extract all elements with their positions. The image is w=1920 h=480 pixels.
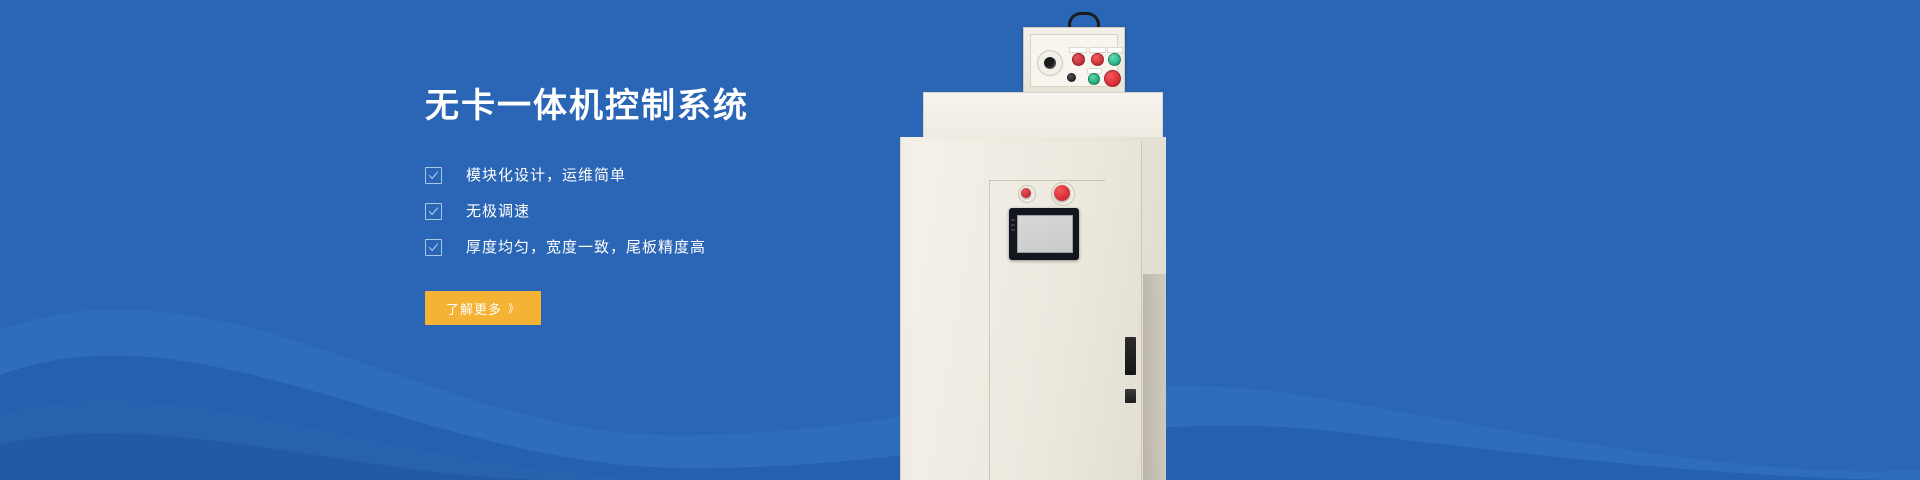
hero-banner: 无卡一体机控制系统 模块化设计，运维简单 无极调速 bbox=[0, 0, 1920, 480]
list-item: 厚度均匀，宽度一致，尾板精度高 bbox=[425, 239, 985, 256]
hmi-panel[interactable] bbox=[1009, 208, 1079, 260]
checkbox-check-icon bbox=[425, 239, 442, 256]
touchscreen-hmi[interactable] bbox=[1017, 215, 1073, 253]
control-box bbox=[1023, 27, 1125, 94]
checkbox-check-icon bbox=[425, 167, 442, 184]
page-title: 无卡一体机控制系统 bbox=[425, 88, 985, 125]
button-emergency-stop[interactable] bbox=[1104, 70, 1121, 87]
hmi-side-keys[interactable] bbox=[1011, 219, 1015, 239]
chevron-right-icon: 》 bbox=[508, 300, 520, 316]
rotary-selector-knob[interactable] bbox=[1037, 50, 1063, 76]
feature-label: 无极调速 bbox=[466, 204, 530, 219]
button-red-2[interactable] bbox=[1091, 53, 1104, 66]
feature-label: 厚度均匀，宽度一致，尾板精度高 bbox=[466, 240, 706, 255]
cabinet-side-shadow bbox=[1143, 274, 1167, 480]
list-item: 无极调速 bbox=[425, 203, 985, 220]
door-handle[interactable] bbox=[1125, 337, 1136, 375]
indicator-small-red[interactable] bbox=[1021, 188, 1031, 198]
door-seam-horizontal bbox=[989, 180, 1105, 181]
list-item: 模块化设计，运维简单 bbox=[425, 167, 985, 184]
feature-label: 模块化设计，运维简单 bbox=[466, 168, 626, 183]
button-red-1[interactable] bbox=[1072, 53, 1085, 66]
feature-list: 模块化设计，运维简单 无极调速 厚度均匀，宽度一致，尾板精度高 bbox=[425, 167, 985, 275]
door-emergency-stop[interactable] bbox=[1054, 185, 1070, 201]
control-box-face bbox=[1030, 34, 1118, 87]
button-black-small[interactable] bbox=[1067, 73, 1076, 82]
lock-icon[interactable] bbox=[1125, 389, 1136, 403]
checkbox-check-icon bbox=[425, 203, 442, 220]
button-green-1[interactable] bbox=[1108, 53, 1121, 66]
door-seam bbox=[989, 180, 990, 480]
learn-more-button[interactable]: 了解更多 》 bbox=[425, 291, 541, 325]
learn-more-label: 了解更多 bbox=[446, 299, 502, 318]
button-green-2[interactable] bbox=[1088, 73, 1100, 85]
hero-content: 无卡一体机控制系统 模块化设计，运维简单 无极调速 bbox=[425, 0, 985, 480]
